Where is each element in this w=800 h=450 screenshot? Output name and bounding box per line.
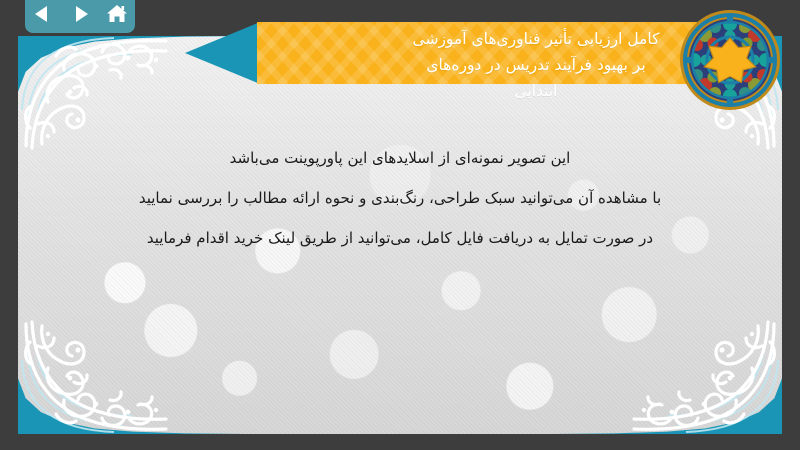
body-line-3: در صورت تمایل به دریافت فایل کامل، می‌تو…: [78, 218, 722, 258]
slide-navigation-bar: [25, 0, 135, 33]
islamic-star-medallion-icon: [678, 8, 782, 112]
triangle-left-icon: [32, 3, 54, 25]
next-slide-button[interactable]: [67, 1, 93, 27]
title-ribbon: کامل ارزیابی تأثیر فناوری‌های آموزشی بر …: [185, 0, 745, 100]
home-icon: [105, 2, 129, 26]
ribbon-tail-arrow: [185, 22, 260, 84]
ornament-medallion: [678, 8, 782, 112]
home-button[interactable]: [104, 1, 130, 27]
ribbon-body: کامل ارزیابی تأثیر فناوری‌های آموزشی بر …: [257, 22, 697, 84]
triangle-right-icon: [69, 3, 91, 25]
body-line-1: این تصویر نمونه‌ای از اسلایدهای این پاور…: [78, 138, 722, 178]
body-line-2: با مشاهده آن می‌توانید سبک طراحی، رنگ‌بن…: [78, 178, 722, 218]
prev-slide-button[interactable]: [30, 1, 56, 27]
slide-body-text: این تصویر نمونه‌ای از اسلایدهای این پاور…: [78, 138, 722, 258]
slide-viewer: این تصویر نمونه‌ای از اسلایدهای این پاور…: [0, 0, 800, 450]
